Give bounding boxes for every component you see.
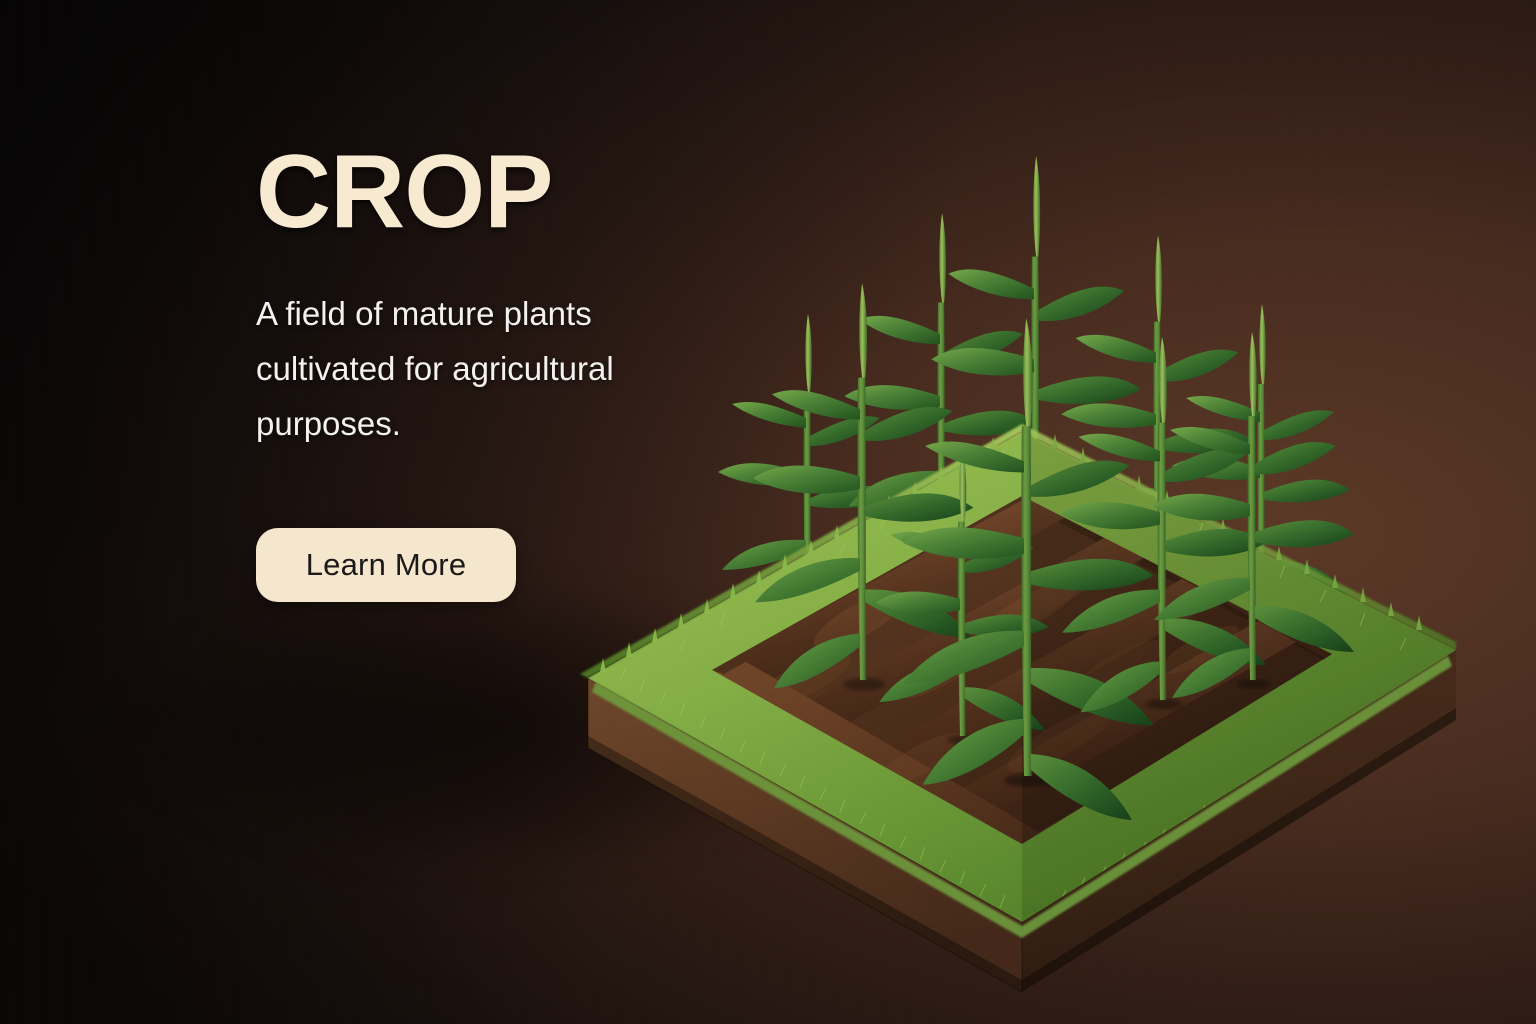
page-title: CROP <box>256 140 726 244</box>
hero-content: CROP A field of mature plants cultivated… <box>256 140 726 602</box>
learn-more-button[interactable]: Learn More <box>256 528 516 602</box>
hero-stage: CROP A field of mature plants cultivated… <box>0 0 1536 1024</box>
hero-description: A field of mature plants cultivated for … <box>256 286 708 451</box>
